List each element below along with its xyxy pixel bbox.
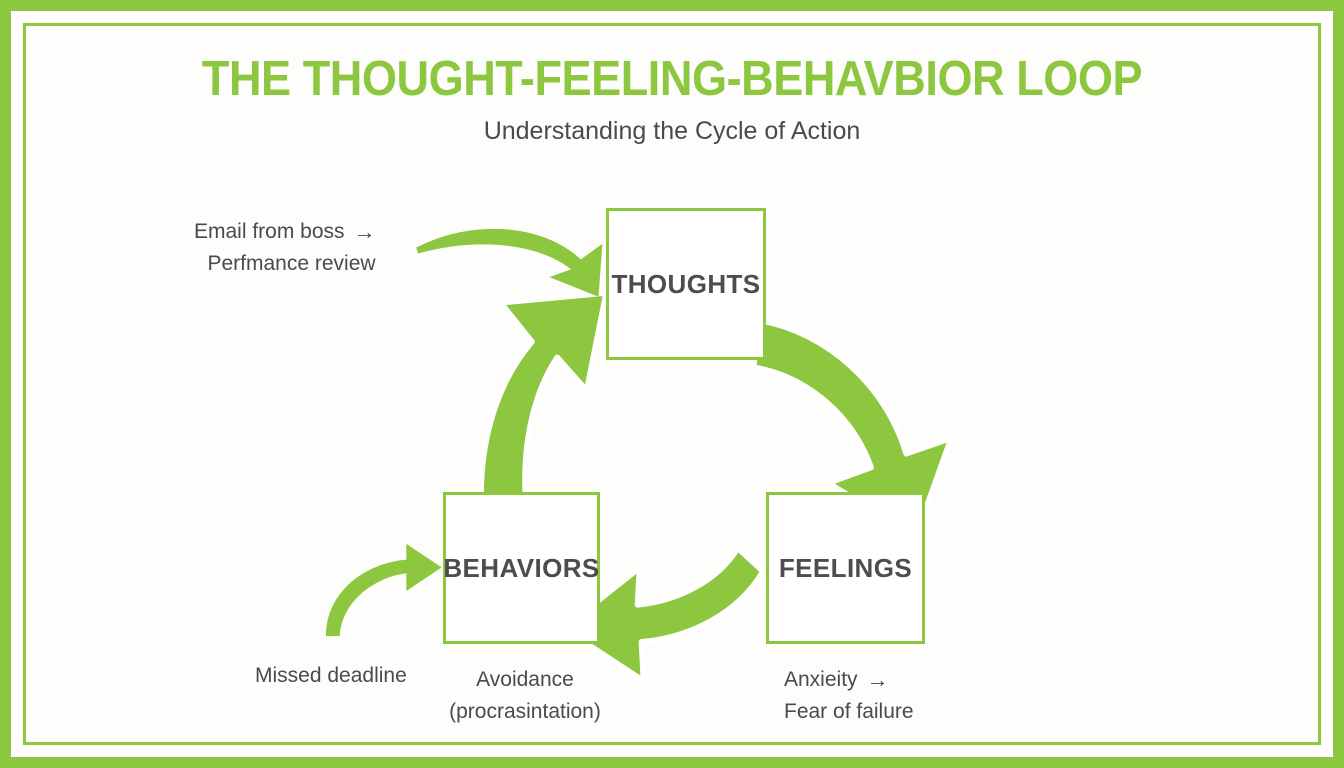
annotation-behavior-example: Avoidance (procrasintation)	[435, 664, 615, 728]
cycle-arrows-canvas: .thick { fill: #8DC63F; stroke: #FFFFFF;…	[26, 26, 1318, 742]
right-arrow-icon-feeling: →	[867, 669, 889, 691]
annotation-behavior-example-line2: (procrasintation)	[435, 696, 615, 728]
node-feelings-label: FEELINGS	[779, 553, 912, 584]
annotation-behavior-example-line1: Avoidance	[435, 664, 615, 696]
annotation-feeling-example-line2: Fear of failure	[784, 696, 914, 728]
poster-frame: THE THOUGHT-FEELING-BEHAVBIOR LOOP Under…	[0, 0, 1344, 768]
right-arrow-icon: →	[354, 221, 376, 243]
poster-frame-gap: THE THOUGHT-FEELING-BEHAVBIOR LOOP Under…	[11, 11, 1333, 757]
node-feelings[interactable]: FEELINGS	[766, 492, 925, 644]
annotation-behavior-trigger: Missed deadline	[255, 660, 407, 692]
annotation-trigger-line1-row: Email from boss →	[194, 216, 376, 248]
node-thoughts-label: THOUGHTS	[611, 269, 760, 300]
cycle-diagram: .thick { fill: #8DC63F; stroke: #FFFFFF;…	[26, 26, 1318, 742]
node-thoughts[interactable]: THOUGHTS	[606, 208, 766, 360]
arrow-missed-deadline-to-behaviors	[326, 544, 442, 636]
annotation-feeling-line1-row: Anxieity →	[784, 664, 914, 696]
node-behaviors[interactable]: BEHAVIORS	[443, 492, 600, 644]
annotation-behavior-trigger-line1: Missed deadline	[255, 660, 407, 692]
annotation-feeling-example-line1: Anxieity	[784, 664, 858, 696]
poster-canvas: THE THOUGHT-FEELING-BEHAVBIOR LOOP Under…	[23, 23, 1321, 745]
arrow-trigger-to-thoughts	[416, 229, 602, 297]
node-behaviors-label: BEHAVIORS	[443, 553, 599, 584]
annotation-feeling-example: Anxieity → Fear of failure	[784, 664, 914, 728]
annotation-trigger-line1: Email from boss	[194, 216, 345, 248]
annotation-trigger: Email from boss → Perfmance review	[194, 216, 376, 280]
annotation-trigger-line2: Perfmance review	[194, 248, 376, 280]
